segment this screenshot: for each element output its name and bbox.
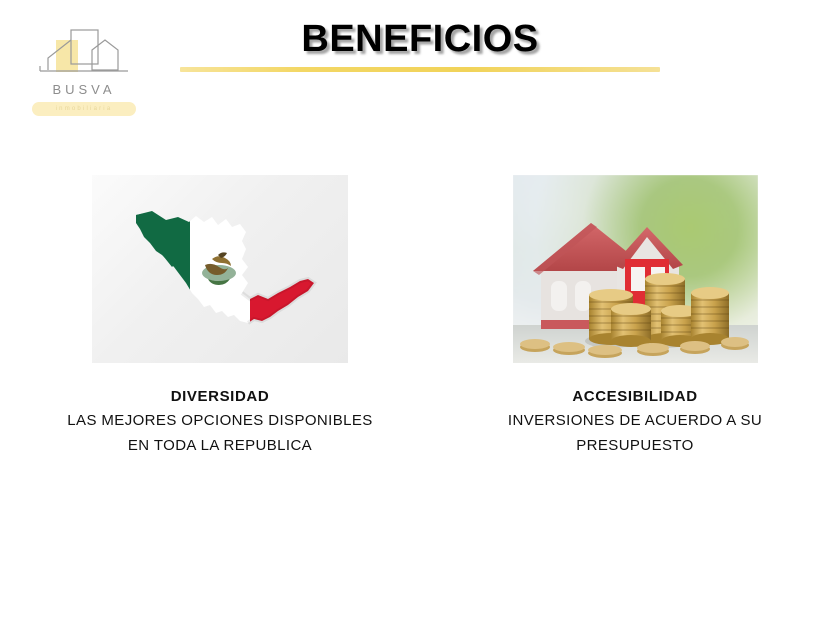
caption-accesibilidad: ACCESIBILIDAD INVERSIONES DE ACUERDO A S…	[455, 386, 815, 458]
house-and-coins-photo	[513, 175, 758, 363]
caption-body-line-2: EN TODA LA REPUBLICA	[20, 433, 420, 458]
caption-body-line-2: PRESUPUESTO	[455, 433, 815, 458]
caption-heading: DIVERSIDAD	[20, 386, 420, 408]
logo-building-icon	[26, 26, 142, 86]
benefit-column-diversidad: DIVERSIDAD LAS MEJORES OPCIONES DISPONIB…	[20, 175, 420, 458]
caption-heading: ACCESIBILIDAD	[455, 386, 815, 408]
benefit-column-accesibilidad: ACCESIBILIDAD INVERSIONES DE ACUERDO A S…	[455, 175, 815, 458]
logo-tagline: inmobiliaria	[32, 102, 136, 116]
title-underline-rule	[180, 67, 660, 72]
mexico-map-flag-photo	[92, 175, 348, 363]
caption-body-line-1: INVERSIONES DE ACUERDO A SU	[455, 408, 815, 433]
busva-logo: BUSVA inmobiliaria	[26, 26, 142, 121]
page-title: BENEFICIOS	[180, 18, 660, 61]
logo-wordmark: BUSVA	[26, 82, 142, 97]
caption-diversidad: DIVERSIDAD LAS MEJORES OPCIONES DISPONIB…	[20, 386, 420, 458]
caption-body-line-1: LAS MEJORES OPCIONES DISPONIBLES	[20, 408, 420, 433]
